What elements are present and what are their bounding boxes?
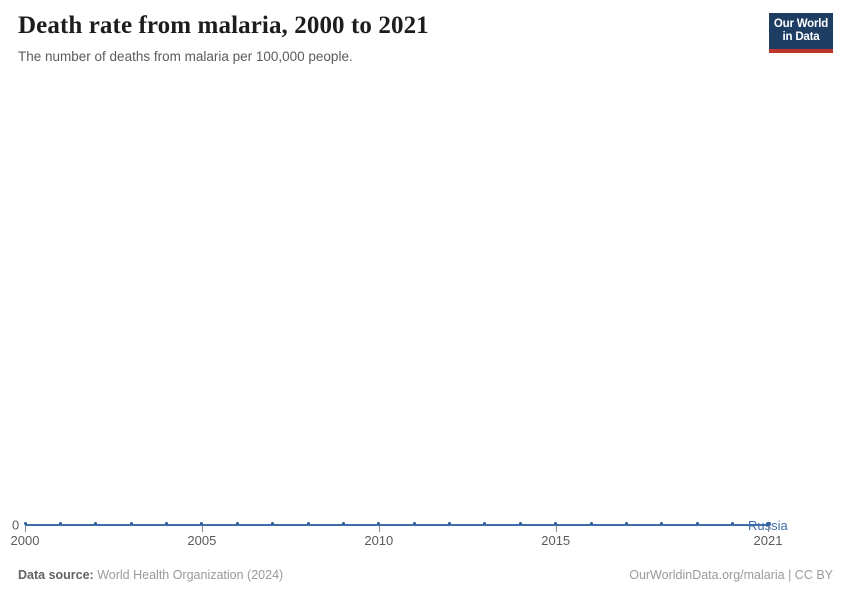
x-axis-tick-label: 2015 bbox=[541, 534, 570, 547]
plot-area: 0 Russia 20002005201020152021 bbox=[0, 95, 850, 550]
chart-footer: Data source: World Health Organization (… bbox=[18, 568, 833, 588]
series-data-point[interactable] bbox=[59, 522, 62, 525]
series-data-point[interactable] bbox=[413, 522, 416, 525]
chart-root: Death rate from malaria, 2000 to 2021 Th… bbox=[0, 0, 850, 600]
series-data-point[interactable] bbox=[165, 522, 168, 525]
series-data-point[interactable] bbox=[342, 522, 345, 525]
series-data-point[interactable] bbox=[519, 522, 522, 525]
x-axis-tick-label: 2005 bbox=[187, 534, 216, 547]
x-axis-tick-mark bbox=[202, 526, 203, 532]
page-title: Death rate from malaria, 2000 to 2021 bbox=[18, 12, 832, 41]
x-axis-tick-mark bbox=[768, 526, 769, 532]
chart-header: Death rate from malaria, 2000 to 2021 Th… bbox=[18, 12, 832, 65]
data-source: Data source: World Health Organization (… bbox=[18, 568, 283, 582]
data-source-label: Data source: bbox=[18, 568, 94, 582]
series-line-russia bbox=[25, 524, 768, 526]
x-axis-tick-mark bbox=[379, 526, 380, 532]
y-axis-tick-label-0: 0 bbox=[12, 519, 19, 532]
attribution-link[interactable]: OurWorldinData.org/malaria | CC BY bbox=[629, 568, 833, 582]
series-russia[interactable] bbox=[25, 519, 768, 533]
x-axis-tick-label: 2000 bbox=[11, 534, 40, 547]
series-data-point[interactable] bbox=[590, 522, 593, 525]
series-data-point[interactable] bbox=[625, 522, 628, 525]
data-source-value: World Health Organization (2024) bbox=[97, 568, 283, 582]
logo-line-2: in Data bbox=[773, 31, 829, 44]
series-data-point[interactable] bbox=[24, 522, 27, 525]
our-world-in-data-logo[interactable]: Our World in Data bbox=[769, 13, 833, 53]
series-data-point[interactable] bbox=[696, 522, 699, 525]
x-axis-tick-mark bbox=[556, 526, 557, 532]
series-data-point[interactable] bbox=[130, 522, 133, 525]
x-axis-tick-label: 2010 bbox=[364, 534, 393, 547]
x-axis-tick-mark bbox=[25, 526, 26, 532]
chart-subtitle: The number of deaths from malaria per 10… bbox=[18, 48, 832, 66]
x-axis-tick-label: 2021 bbox=[754, 534, 783, 547]
series-data-point[interactable] bbox=[236, 522, 239, 525]
series-data-point[interactable] bbox=[307, 522, 310, 525]
logo-line-1: Our World bbox=[773, 18, 829, 31]
